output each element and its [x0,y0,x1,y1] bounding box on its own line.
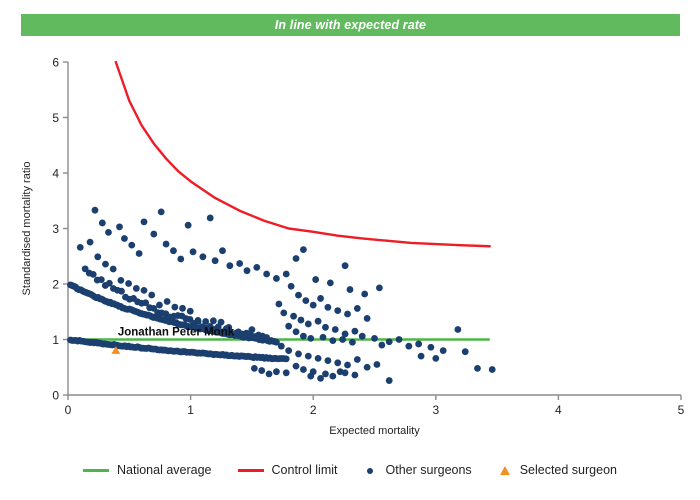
funnel-plot-page: In line with expected rate 0123456012345… [0,0,700,500]
legend-item[interactable]: Selected surgeon [498,463,617,477]
surgeon-point [236,260,243,267]
surgeon-point [329,337,336,344]
x-axis-tick-label: 2 [310,403,317,417]
funnel-plot-canvas: 0123456012345Expected mortalityStandardi… [0,0,700,455]
surgeon-point [90,271,97,278]
surgeon-point [293,363,300,370]
surgeon-point [359,333,366,340]
surgeon-point [283,355,290,362]
surgeon-point [275,301,282,308]
surgeon-point [77,244,84,251]
surgeon-point [241,332,248,339]
surgeon-point [342,262,349,269]
surgeon-point [105,229,112,236]
surgeon-point [273,275,280,282]
y-axis-tick-label: 5 [52,111,59,125]
surgeon-point [354,305,361,312]
surgeon-point [117,277,124,284]
surgeon-point [462,348,469,355]
surgeon-point [266,371,273,378]
surgeon-point [364,364,371,371]
surgeon-point [349,339,356,346]
surgeon-point [378,342,385,349]
surgeon-point [185,222,192,229]
control-limit-curve [116,62,490,246]
surgeon-point [374,361,381,368]
surgeon-point [351,372,358,379]
surgeon-point [171,304,178,311]
surgeon-point [278,343,285,350]
surgeon-point [293,255,300,262]
surgeon-point [110,266,117,273]
surgeon-point [136,250,143,257]
legend-line-swatch [238,469,264,472]
surgeon-point [415,341,422,348]
y-axis-tick-label: 4 [52,167,59,181]
surgeon-point [244,267,251,274]
surgeon-point [300,366,307,373]
surgeon-point [293,328,300,335]
surgeon-point [302,297,309,304]
surgeon-point [121,235,128,242]
surgeon-point [212,257,219,264]
y-axis-title: Standardised mortality ratio [21,162,33,296]
surgeon-point [210,317,217,324]
surgeon-point [283,271,290,278]
legend-line-swatch [83,469,109,472]
surgeon-point [354,356,361,363]
surgeon-point [332,326,339,333]
surgeon-point [440,347,447,354]
legend-item[interactable]: Other surgeons [364,463,472,477]
surgeon-point [150,231,157,238]
x-axis-tick-label: 5 [678,403,685,417]
surgeon-point [158,208,165,215]
surgeon-point [317,375,324,382]
surgeon-point [125,280,132,287]
surgeon-point [218,319,225,326]
x-axis-tick-label: 3 [432,403,439,417]
legend-item-label: Selected surgeon [520,463,617,477]
surgeon-point [474,365,481,372]
surgeon-point [376,284,383,291]
surgeon-point [347,286,354,293]
surgeon-point [386,377,393,384]
surgeon-point [295,351,302,358]
surgeon-point [253,264,260,271]
legend-triangle-swatch [500,466,510,475]
surgeon-point [128,242,135,249]
x-axis-title: Expected mortality [329,425,420,437]
legend-item-label: Control limit [272,463,338,477]
surgeon-point [290,313,297,320]
legend-item[interactable]: Control limit [238,463,338,477]
surgeon-point [489,366,496,373]
surgeon-point [288,283,295,290]
surgeon-point [190,248,197,255]
surgeon-point [199,253,206,260]
surgeon-point [305,353,312,360]
surgeon-point [454,326,461,333]
surgeon-point [92,207,99,214]
green-line-icon [83,464,109,476]
surgeon-point [141,218,148,225]
surgeon-point [141,287,148,294]
surgeon-point [251,365,258,372]
surgeon-point [361,291,368,298]
surgeon-point [133,285,140,292]
surgeon-point [179,305,186,312]
surgeon-point [280,309,287,316]
surgeon-point [156,302,163,309]
surgeon-point [148,292,155,299]
selected-surgeon-annotation: Jonathan Peter Monk [118,327,235,339]
legend-item[interactable]: National average [83,463,212,477]
surgeon-point [320,334,327,341]
surgeon-point [334,359,341,366]
legend-dot-swatch [367,468,374,475]
surgeon-point [258,367,265,374]
surgeon-point [298,317,305,324]
x-axis-tick-label: 0 [65,403,72,417]
surgeon-point [118,288,125,295]
surgeon-point [322,324,329,331]
surgeon-point [396,336,403,343]
surgeon-point [339,336,346,343]
surgeon-point [371,335,378,342]
surgeon-point [116,223,123,230]
surgeon-point [317,295,324,302]
surgeon-point [177,256,184,263]
surgeon-point [163,241,170,248]
surgeon-point [273,368,280,375]
surgeon-point [164,298,171,305]
surgeon-point [170,247,177,254]
surgeon-point [195,317,202,324]
surgeon-point [312,276,319,283]
y-axis-tick-label: 6 [52,56,59,70]
surgeon-point [219,247,226,254]
chart-legend: National averageControl limitOther surge… [0,455,700,485]
surgeon-point [428,344,435,351]
surgeon-point [283,369,290,376]
surgeon-point [187,308,194,315]
surgeon-point [334,307,341,314]
surgeon-point [207,215,214,222]
surgeon-point [285,323,292,330]
surgeon-point [295,292,302,299]
surgeon-point [342,369,349,376]
surgeon-point [310,302,317,309]
surgeon-point [351,328,358,335]
surgeon-point [249,326,256,333]
surgeon-point [285,347,292,354]
surgeon-point [102,261,109,268]
surgeon-point [202,318,209,325]
surgeon-point [315,318,322,325]
surgeon-point [329,373,336,380]
surgeon-point [300,246,307,253]
surgeon-point [325,304,332,311]
legend-item-label: National average [117,463,212,477]
surgeon-point [432,355,439,362]
y-axis-tick-label: 2 [52,278,59,292]
surgeon-point [386,338,393,345]
y-axis-tick-label: 1 [52,333,59,347]
surgeon-point [87,239,94,246]
x-axis-tick-label: 1 [187,403,194,417]
navy-dot-icon [364,464,378,476]
surgeon-point [300,333,307,340]
red-line-icon [238,464,264,476]
surgeon-point [305,321,312,328]
other-surgeons-points [67,207,496,384]
surgeon-point [344,362,351,369]
surgeon-point [315,355,322,362]
surgeon-point [94,253,101,260]
surgeon-point [364,315,371,322]
legend-item-label: Other surgeons [386,463,472,477]
surgeon-point [418,353,425,360]
y-axis-tick-label: 0 [52,389,59,403]
surgeon-point [307,335,314,342]
surgeon-point [325,357,332,364]
x-axis-tick-label: 4 [555,403,562,417]
surgeon-point [327,279,334,286]
surgeon-point [307,373,314,380]
y-axis-tick-label: 3 [52,222,59,236]
orange-triangle-icon [498,464,512,476]
surgeon-point [226,262,233,269]
surgeon-point [99,220,106,227]
surgeon-point [263,334,270,341]
surgeon-point [263,271,270,278]
surgeon-point [344,311,351,318]
surgeon-point [98,276,105,283]
surgeon-point [405,343,412,350]
